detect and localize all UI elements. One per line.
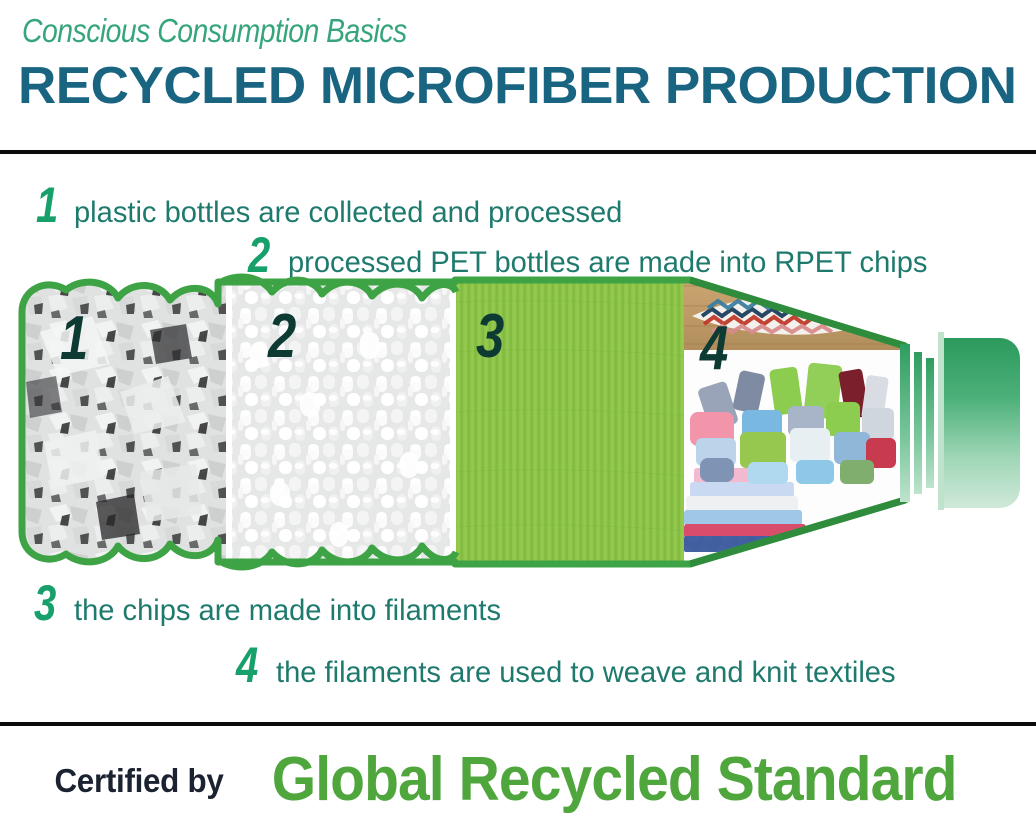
step-number-4: 4 [236, 640, 258, 690]
bottle-svg [0, 272, 1036, 572]
bottle-diagram [0, 272, 1036, 572]
step-text-4: the filaments are used to weave and knit… [276, 658, 896, 688]
standard-name: Global Recycled Standard [272, 749, 957, 811]
step-number-3: 3 [34, 578, 56, 628]
bottle-cap [944, 338, 1020, 508]
panel-2-rpet-chips [228, 272, 454, 572]
certification-footer: Certified by Global Recycled Standard [0, 735, 1036, 825]
panel-3-filaments [452, 272, 688, 572]
bottle-body [18, 272, 914, 572]
infographic-canvas: Conscious Consumption Basics RECYCLED MI… [0, 0, 1036, 828]
divider-bottom [0, 722, 1036, 726]
step-number-1: 1 [36, 180, 58, 230]
certified-by-label: Certified by [54, 764, 223, 797]
step-caption-1: 1 plastic bottles are collected and proc… [36, 180, 639, 230]
step-caption-4: 4 the filaments are used to weave and kn… [236, 640, 915, 690]
step-text-1: plastic bottles are collected and proces… [74, 198, 622, 228]
divider-top [0, 150, 1036, 154]
panel-1-pet-flakes [18, 272, 230, 572]
page-title: RECYCLED MICROFIBER PRODUCTION [18, 60, 1016, 112]
eyebrow-subtitle: Conscious Consumption Basics [22, 14, 407, 47]
step-text-3: the chips are made into filaments [74, 596, 501, 626]
bottle-neck-threads [900, 332, 944, 510]
step-caption-3: 3 the chips are made into filaments [34, 578, 514, 628]
panel-4-textiles [680, 272, 914, 572]
